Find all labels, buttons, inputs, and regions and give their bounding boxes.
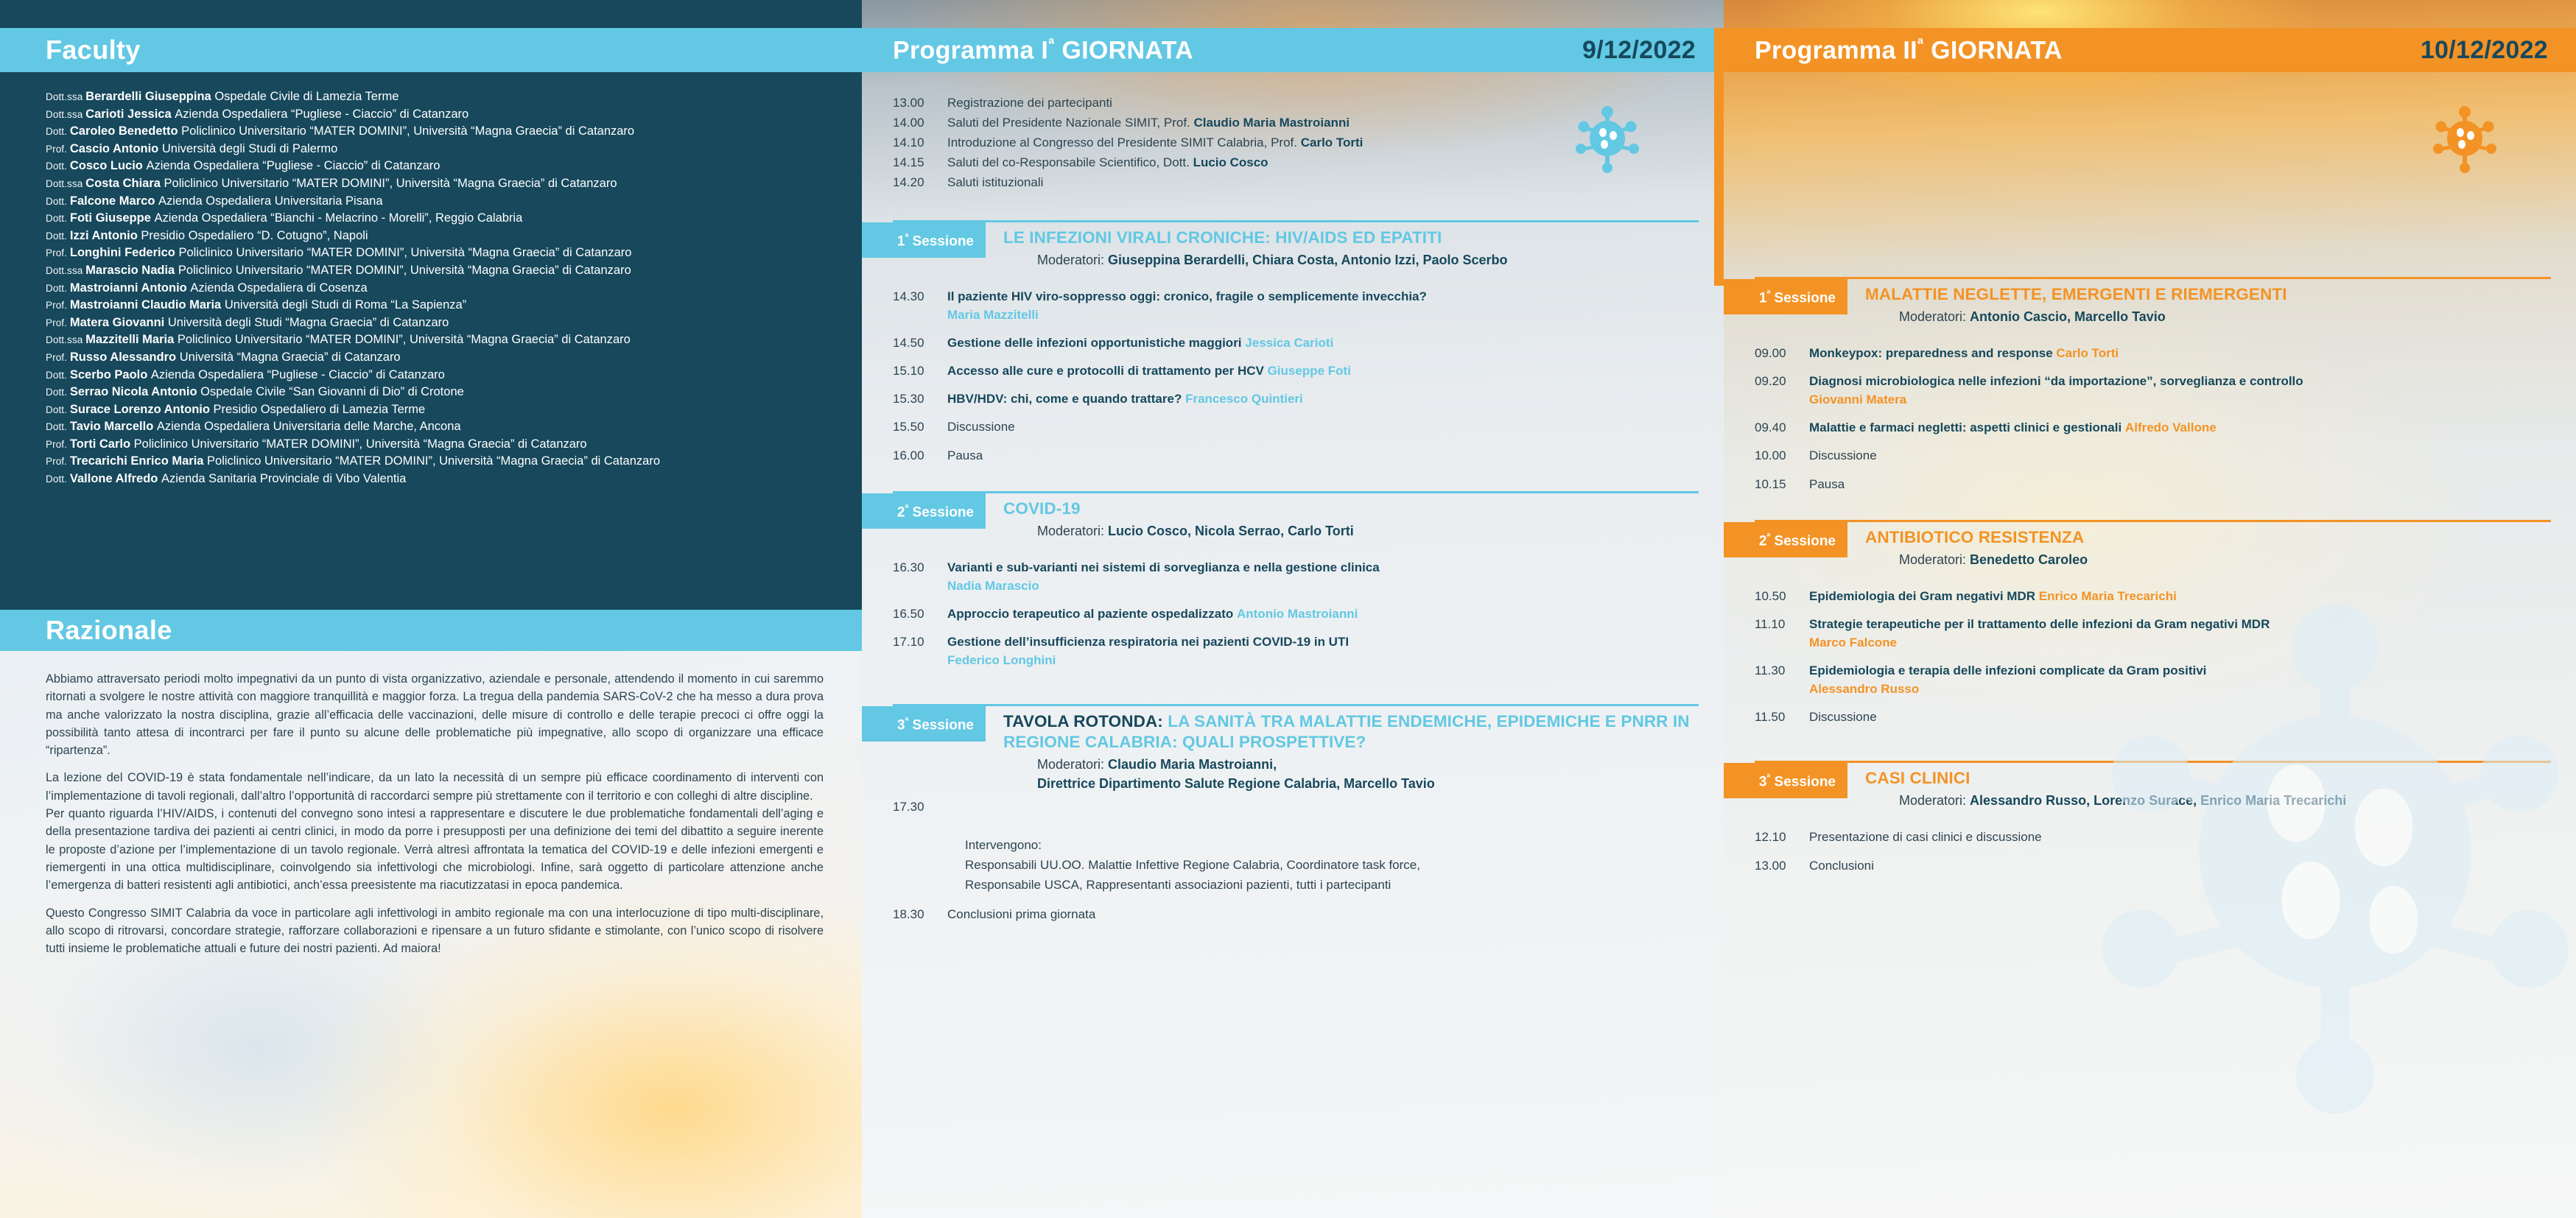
program-poster: Faculty Dott.ssa Berardelli Giuseppina O… [0,0,2576,1218]
interventions-block: Intervengono:Responsabili UU.OO. Malatti… [862,835,1699,895]
faculty-affiliation: Università degli Studi di Roma “La Sapie… [225,298,466,311]
talk-time: 11.50 [1724,708,1809,726]
razionale-section: Razionale Abbiamo attraversato periodi m… [0,610,862,1218]
session-title: MALATTIE NEGLETTE, EMERGENTI E RIEMERGEN… [1865,284,2287,305]
faculty-affiliation: Policlinico Universitario “MATER DOMINI”… [178,333,631,346]
faculty-title: Prof. [46,247,70,258]
schedule-time: 10.15 [1724,475,1809,493]
razionale-paragraph: La lezione del COVID-19 è stata fondamen… [46,769,824,805]
talk-time: 09.40 [1724,418,1809,437]
faculty-title: Dott.ssa [46,109,85,120]
faculty-entry: Prof. Longhini Federico Policlinico Univ… [46,244,832,262]
talk-content: Discussione [1809,446,2551,465]
faculty-affiliation: Policlinico Universitario “MATER DOMINI”… [207,454,660,468]
faculty-name: Mastroianni Claudio Maria [70,298,225,311]
talk-row: 16.50Approccio terapeutico al paziente o… [862,605,1699,623]
faculty-name: Izzi Antonio [70,229,141,242]
faculty-name: Carioti Jessica [85,108,175,121]
talk-content: Presentazione di casi clinici e discussi… [1809,828,2551,846]
talk-title: Malattie e farmaci negletti: aspetti cli… [1809,420,2121,434]
schedule-row: 14.20Saluti istituzionali [862,172,1699,192]
faculty-name: Berardelli Giuseppina [85,90,214,103]
talk-speaker: Antonio Mastroianni [1237,607,1358,621]
schedule-text: Conclusioni [1809,856,2551,875]
faculty-entry: Dott. Serrao Nicola Antonio Ospedale Civ… [46,384,832,401]
faculty-name: Foti Giuseppe [70,211,155,225]
session-header: 1ª SessioneMALATTIE NEGLETTE, EMERGENTI … [1724,279,2551,326]
talk-content: Varianti e sub-varianti nei sistemi di s… [947,558,1699,595]
faculty-title: Prof. [46,352,70,363]
session-tab: 1ª Sessione [862,222,986,258]
talk-content: Malattie e farmaci negletti: aspetti cli… [1809,418,2551,437]
talk-content: Discussione [947,418,1699,436]
faculty-heading: Faculty [46,35,141,66]
faculty-entry: Dott. Cosco Lucio Azienda Ospedaliera “P… [46,158,832,175]
talk-row: 14.30Il paziente HIV viro-soppresso oggi… [862,287,1699,324]
schedule-text: Saluti istituzionali [947,172,1699,192]
schedule-text: Pausa [1809,475,2551,493]
razionale-text: Abbiamo attraversato periodi molto impeg… [0,651,862,957]
talk-speaker: Carlo Torti [2056,346,2119,360]
post-session-rows: 18.30Conclusioni prima giornata [862,905,1699,923]
talk-speaker: Giovanni Matera [1809,392,1906,406]
razionale-paragraph: Abbiamo attraversato periodi molto impeg… [46,670,824,759]
talk-speaker: Nadia Marascio [947,579,1039,593]
faculty-entry: Dott.ssa Mazzitelli Maria Policlinico Un… [46,331,832,349]
talk-title: Monkeypox: preparedness and response [1809,346,2053,360]
talk-content: HBV/HDV: chi, come e quando trattare? Fr… [947,390,1699,408]
faculty-name: Marascio Nadia [85,264,178,277]
faculty-title: Dott. [46,161,70,172]
faculty-entry: Prof. Torti Carlo Policlinico Universita… [46,436,832,454]
faculty-entry: Dott. Izzi Antonio Presidio Ospedaliero … [46,228,832,245]
faculty-title: Dott. [46,370,70,381]
session-moderators: Moderatori: Giuseppina Berardelli, Chiar… [1003,248,1507,270]
session-title: LE INFEZIONI VIRALI CRONICHE: HIV/AIDS E… [1003,228,1507,248]
faculty-affiliation: Presidio Ospedaliero di Lamezia Terme [214,403,426,416]
faculty-affiliation: Università “Magna Graecia” di Catanzaro [180,351,401,364]
session-block: 2ª SessioneCOVID-19Moderatori: Lucio Cos… [862,491,1699,669]
day2-header: Programma IIª GIORNATA 10/12/2022 [1724,28,2576,72]
talk-content: Accesso alle cure e protocolli di tratta… [947,362,1699,380]
talk-row: 16.30Varianti e sub-varianti nei sistemi… [862,558,1699,595]
faculty-affiliation: Azienda Ospedaliera di Cosenza [190,281,367,295]
talk-list: 10.50Epidemiologia dei Gram negativi MDR… [1724,569,2551,726]
schedule-text: Pausa [947,446,1699,465]
faculty-entry: Dott. Mastroianni Antonio Azienda Ospeda… [46,280,832,298]
day1-header: Programma Iª GIORNATA 9/12/2022 [862,28,1724,72]
day1-date: 9/12/2022 [1582,36,1696,65]
faculty-name: Surace Lorenzo Antonio [70,403,214,416]
faculty-affiliation: Azienda Ospedaliera “Pugliese - Ciaccio”… [175,108,468,121]
session-meta: LE INFEZIONI VIRALI CRONICHE: HIV/AIDS E… [986,222,1507,270]
faculty-title: Dott. [46,230,70,242]
faculty-name: Scerbo Paolo [70,368,151,381]
schedule-text: Registrazione dei partecipanti [947,93,1699,113]
interventions-line: Responsabili UU.OO. Malattie Infettive R… [965,855,1699,875]
talk-speaker: Francesco Quintieri [1185,392,1303,406]
talk-speaker: Alessandro Russo [1809,682,1919,696]
schedule-time: 14.10 [862,133,947,152]
faculty-affiliation: Presidio Ospedaliero “D. Cotugno”, Napol… [141,229,368,242]
post-session-rows: 16.00Pausa [862,446,1699,465]
talk-title: Diagnosi microbiologica nelle infezioni … [1809,374,2303,388]
day1-program: 13.00Registrazione dei partecipanti14.00… [862,72,1724,943]
razionale-heading-bar: Razionale [0,610,862,651]
talk-time: 12.10 [1724,828,1809,846]
post-session-rows: 10.15Pausa [1724,475,2551,493]
faculty-entry: Prof. Russo Alessandro Università “Magna… [46,349,832,367]
faculty-entry: Dott.ssa Marascio Nadia Policlinico Univ… [46,262,832,280]
session-block: 3ª SessioneCASI CLINICIModeratori: Aless… [1724,761,2551,875]
talk-time: 15.50 [862,418,947,436]
faculty-entry: Prof. Trecarichi Enrico Maria Policlinic… [46,453,832,471]
talk-time: 17.10 [862,633,947,669]
talk-time: 15.30 [862,390,947,408]
schedule-row: 16.00Pausa [862,446,1699,465]
faculty-title: Dott. [46,196,70,207]
talk-title: Epidemiologia dei Gram negativi MDR [1809,589,2035,603]
faculty-entry: Prof. Matera Giovanni Università degli S… [46,314,832,332]
talk-row: 15.10Accesso alle cure e protocolli di t… [862,362,1699,380]
session-moderators-line2: Direttrice Dipartimento Salute Regione C… [1037,774,1699,793]
session-header: 3ª SessioneTAVOLA ROTONDA: LA SANITÀ TRA… [862,706,1699,793]
talk-row: 14.50Gestione delle infezioni opportunis… [862,334,1699,352]
faculty-affiliation: Azienda Ospedaliera Universitaria delle … [157,420,461,433]
session-tab: 3ª Sessione [1724,763,1847,798]
talk-time: 11.10 [1724,615,1809,652]
faculty-title: Dott. [46,126,70,137]
talk-content: Discussione [1809,708,2551,726]
faculty-name: Caroleo Benedetto [70,124,181,138]
session-block: 1ª SessioneMALATTIE NEGLETTE, EMERGENTI … [1724,277,2551,493]
session-tab: 3ª Sessione [862,706,986,742]
session-meta: TAVOLA ROTONDA: LA SANITÀ TRA MALATTIE E… [986,706,1699,793]
talk-speaker: Marco Falcone [1809,636,1897,650]
schedule-time: 18.30 [862,905,947,923]
faculty-title: Dott. [46,474,70,485]
talk-title: Strategie terapeutiche per il trattament… [1809,617,2270,631]
schedule-row: 13.00Conclusioni [1724,856,2551,875]
talk-row: 10.50Epidemiologia dei Gram negativi MDR… [1724,587,2551,605]
talk-time: 10.00 [1724,446,1809,465]
talk-time: 10.50 [1724,587,1809,605]
razionale-heading: Razionale [46,615,172,646]
orange-divider [1714,28,1724,286]
intro-schedule: 13.00Registrazione dei partecipanti14.00… [862,72,1699,192]
day1-title: Programma Iª GIORNATA [893,35,1193,65]
talk-title: Epidemiologia e terapia delle infezioni … [1809,663,2206,677]
talk-list: 14.30Il paziente HIV viro-soppresso oggi… [862,270,1699,436]
session-tab: 2ª Sessione [1724,522,1847,557]
schedule-text: Saluti del co-Responsabile Scientifico, … [947,152,1699,172]
faculty-title: Prof. [46,456,70,467]
speaker-name: Lucio Cosco [1193,155,1268,169]
session-header: 1ª SessioneLE INFEZIONI VIRALI CRONICHE:… [862,222,1699,270]
faculty-name: Trecarichi Enrico Maria [70,454,207,468]
interventions-label: Intervengono: [965,835,1699,855]
faculty-title: Dott. [46,421,70,432]
talk-content: Epidemiologia e terapia delle infezioni … [1809,661,2551,698]
faculty-affiliation: Università degli Studi “Magna Graecia” d… [168,316,449,329]
session-header: 3ª SessioneCASI CLINICIModeratori: Aless… [1724,763,2551,810]
session-moderators: Moderatori: Antonio Cascio, Marcello Tav… [1865,305,2287,326]
session-moderators: Moderatori: Benedetto Caroleo [1865,548,2088,569]
schedule-time: 14.20 [862,172,947,192]
talk-content: Gestione dell’insufficienza respiratoria… [947,633,1699,669]
speaker-name: Carlo Torti [1301,135,1364,149]
talk-content: Monkeypox: preparedness and response Car… [1809,344,2551,362]
talk-title: Gestione dell’insufficienza respiratoria… [947,635,1349,649]
session-title: CASI CLINICI [1865,768,2346,789]
session-title: TAVOLA ROTONDA: LA SANITÀ TRA MALATTIE E… [1003,711,1699,753]
day2-date: 10/12/2022 [2421,36,2548,65]
faculty-affiliation: Azienda Ospedaliera Universitaria Pisana [158,194,383,208]
faculty-affiliation: Università degli Studi di Palermo [162,142,337,155]
faculty-entry: Dott. Falcone Marco Azienda Ospedaliera … [46,193,832,211]
schedule-row: 13.00Registrazione dei partecipanti [862,93,1699,113]
talk-title: Il paziente HIV viro-soppresso oggi: cro… [947,289,1427,303]
faculty-name: Longhini Federico [70,246,179,259]
schedule-time: 13.00 [862,93,947,113]
talk-row: 11.30Epidemiologia e terapia delle infez… [1724,661,2551,698]
session-header: 2ª SessioneANTIBIOTICO RESISTENZAModerat… [1724,522,2551,569]
talk-title: Accesso alle cure e protocolli di tratta… [947,364,1264,378]
faculty-affiliation: Policlinico Universitario “MATER DOMINI”… [181,124,634,138]
schedule-row: 18.30Conclusioni prima giornata [862,905,1699,923]
speaker-name: Claudio Maria Mastroianni [1194,116,1350,130]
talk-speaker: Maria Mazzitelli [947,308,1039,322]
faculty-entry: Dott. Vallone Alfredo Azienda Sanitaria … [46,471,832,488]
faculty-name: Russo Alessandro [70,351,180,364]
talk-time: 09.00 [1724,344,1809,362]
talk-content: Epidemiologia dei Gram negativi MDR Enri… [1809,587,2551,605]
faculty-title: Dott.ssa [46,178,85,189]
faculty-affiliation: Policlinico Universitario “MATER DOMINI”… [178,246,631,259]
faculty-affiliation: Azienda Ospedaliera “Pugliese - Ciaccio”… [146,159,440,172]
talk-content: Approccio terapeutico al paziente ospeda… [947,605,1699,623]
session-meta: COVID-19Moderatori: Lucio Cosco, Nicola … [986,493,1354,541]
faculty-entry: Dott.ssa Costa Chiara Policlinico Univer… [46,175,832,193]
top-strip [0,0,862,28]
faculty-entry: Dott. Tavio Marcello Azienda Ospedaliera… [46,418,832,436]
post-session-rows: 13.00Conclusioni [1724,856,2551,875]
session-block: 1ª SessioneLE INFEZIONI VIRALI CRONICHE:… [862,220,1699,465]
day2-column: Programma IIª GIORNATA 10/12/2022 1ª Ses… [1724,0,2576,1218]
faculty-entry: Dott.ssa Berardelli Giuseppina Ospedale … [46,88,832,106]
session-moderators: Moderatori: Lucio Cosco, Nicola Serrao, … [1003,519,1354,541]
talk-title: HBV/HDV: chi, come e quando trattare? [947,392,1182,406]
talk-speaker: Federico Longhini [947,653,1056,667]
talk-content: Il paziente HIV viro-soppresso oggi: cro… [947,287,1699,324]
talk-speaker: Jessica Carioti [1245,336,1333,350]
faculty-affiliation: Ospedale Civile “San Giovanni di Dio” di… [200,385,464,398]
faculty-name: Serrao Nicola Antonio [70,385,200,398]
faculty-entry: Dott. Surace Lorenzo Antonio Presidio Os… [46,401,832,419]
faculty-title: Dott. [46,404,70,415]
talk-time: 16.30 [862,558,947,595]
talk-time: 11.30 [1724,661,1809,698]
talk-speaker: Giuseppe Foti [1268,364,1351,378]
faculty-title: Prof. [46,144,70,155]
talk-title: Approccio terapeutico al paziente ospeda… [947,607,1233,621]
talk-row: 17.10Gestione dell’insufficienza respira… [862,633,1699,669]
session-title: ANTIBIOTICO RESISTENZA [1865,527,2088,548]
session-moderators: Moderatori: Claudio Maria Mastroianni,Di… [1003,753,1699,793]
faculty-title: Dott. [46,213,70,224]
faculty-title: Dott. [46,283,70,294]
session-header: 2ª SessioneCOVID-19Moderatori: Lucio Cos… [862,493,1699,541]
talk-row: 11.10Strategie terapeutiche per il tratt… [1724,615,2551,652]
faculty-affiliation: Azienda Sanitaria Provinciale di Vibo Va… [161,472,406,485]
schedule-time: 13.00 [1724,856,1809,875]
session-title: COVID-19 [1003,499,1354,519]
talk-time: 14.50 [862,334,947,352]
faculty-title: Dott.ssa [46,334,85,345]
faculty-entry: Dott. Scerbo Paolo Azienda Ospedaliera “… [46,367,832,384]
interventions-line: Responsabile USCA, Rappresentanti associ… [965,875,1699,895]
talk-row: 09.20Diagnosi microbiologica nelle infez… [1724,372,2551,409]
talk-row: 09.00Monkeypox: preparedness and respons… [1724,344,2551,362]
faculty-title: Prof. [46,317,70,328]
faculty-name: Costa Chiara [85,177,164,190]
talk-row: 12.10Presentazione di casi clinici e dis… [1724,828,2551,846]
talk-list: 16.30Varianti e sub-varianti nei sistemi… [862,541,1699,669]
schedule-time: 17.30 [862,798,947,816]
faculty-name: Tavio Marcello [70,420,157,433]
razionale-paragraph: Questo Congresso SIMIT Calabria da voce … [46,904,824,958]
talk-time: 09.20 [1724,372,1809,409]
faculty-title: Prof. [46,439,70,450]
faculty-name: Mazzitelli Maria [85,333,178,346]
faculty-affiliation: Policlinico Universitario “MATER DOMINI”… [178,264,631,277]
faculty-entry: Dott. Caroleo Benedetto Policlinico Univ… [46,123,832,141]
session-tab: 1ª Sessione [1724,279,1847,314]
faculty-entry: Dott.ssa Carioti Jessica Azienda Ospedal… [46,106,832,124]
session-meta: CASI CLINICIModeratori: Alessandro Russo… [1847,763,2346,810]
talk-row: 09.40Malattie e farmaci negletti: aspett… [1724,418,2551,437]
faculty-name: Matera Giovanni [70,316,168,329]
faculty-title: Dott. [46,387,70,398]
talk-list: 09.00Monkeypox: preparedness and respons… [1724,326,2551,465]
day2-program: 1ª SessioneMALATTIE NEGLETTE, EMERGENTI … [1724,72,2576,894]
day2-title: Programma IIª GIORNATA [1755,35,2063,65]
faculty-affiliation: Policlinico Universitario “MATER DOMINI”… [164,177,617,190]
session-block: 3ª SessioneTAVOLA ROTONDA: LA SANITÀ TRA… [862,704,1699,923]
session-title-prefix: TAVOLA ROTONDA: [1003,712,1168,731]
razionale-paragraph: Per quanto riguarda l’HIV/AIDS, i conten… [46,805,824,894]
faculty-name: Vallone Alfredo [70,472,161,485]
session-moderators: Moderatori: Alessandro Russo, Lorenzo Su… [1865,789,2346,810]
schedule-text: Saluti del Presidente Nazionale SIMIT, P… [947,113,1699,133]
session-meta: MALATTIE NEGLETTE, EMERGENTI E RIEMERGEN… [1847,279,2287,326]
faculty-list: Dott.ssa Berardelli Giuseppina Ospedale … [0,72,862,507]
day1-column: Programma Iª GIORNATA 9/12/2022 13.00Reg… [862,0,1724,1218]
schedule-row: 14.15Saluti del co-Responsabile Scientif… [862,152,1699,172]
talk-row: 15.30HBV/HDV: chi, come e quando trattar… [862,390,1699,408]
faculty-name: Falcone Marco [70,194,158,208]
schedule-row: 10.15Pausa [1724,475,2551,493]
faculty-entry: Dott. Foti Giuseppe Azienda Ospedaliera … [46,210,832,228]
talk-title: Varianti e sub-varianti nei sistemi di s… [947,560,1380,574]
talk-speaker: Enrico Maria Trecarichi [2039,589,2177,603]
faculty-entry: Prof. Cascio Antonio Università degli St… [46,141,832,158]
talk-time: 14.30 [862,287,947,324]
faculty-affiliation: Azienda Ospedaliera “Pugliese - Ciaccio”… [151,368,445,381]
talk-content: Gestione delle infezioni opportunistiche… [947,334,1699,352]
talk-content: Strategie terapeutiche per il trattament… [1809,615,2551,652]
schedule-row: 17.30 [862,798,1699,816]
schedule-row: 14.00Saluti del Presidente Nazionale SIM… [862,113,1699,133]
talk-row: 11.50Discussione [1724,708,2551,726]
faculty-name: Torti Carlo [70,437,134,451]
faculty-title: Prof. [46,300,70,311]
talk-title: Gestione delle infezioni opportunistiche… [947,336,1242,350]
faculty-affiliation: Policlinico Universitario “MATER DOMINI”… [134,437,587,451]
faculty-name: Cosco Lucio [70,159,147,172]
schedule-row: 14.10Introduzione al Congresso del Presi… [862,133,1699,152]
session-tab: 2ª Sessione [862,493,986,529]
session-block: 2ª SessioneANTIBIOTICO RESISTENZAModerat… [1724,520,2551,726]
schedule-text: Introduzione al Congresso del Presidente… [947,133,1699,152]
talk-time: 16.50 [862,605,947,623]
faculty-affiliation: Ospedale Civile di Lamezia Terme [214,90,399,103]
faculty-heading-bar: Faculty [0,28,862,72]
talk-list: 12.10Presentazione di casi clinici e dis… [1724,810,2551,846]
faculty-title: Dott.ssa [46,91,85,102]
schedule-time: 16.00 [862,446,947,465]
faculty-title: Dott.ssa [46,265,85,276]
schedule-time: 14.00 [862,113,947,133]
schedule-text: Conclusioni prima giornata [947,905,1699,923]
talk-content: Diagnosi microbiologica nelle infezioni … [1809,372,2551,409]
talk-speaker: Alfredo Vallone [2125,420,2217,434]
faculty-affiliation: Azienda Ospedaliera “Bianchi - Melacrino… [154,211,522,225]
faculty-name: Cascio Antonio [70,142,162,155]
faculty-column: Faculty Dott.ssa Berardelli Giuseppina O… [0,0,862,1218]
session-meta: ANTIBIOTICO RESISTENZAModeratori: Benede… [1847,522,2088,569]
talk-time: 15.10 [862,362,947,380]
faculty-entry: Prof. Mastroianni Claudio Maria Universi… [46,297,832,314]
talk-row: 15.50Discussione [862,418,1699,436]
faculty-name: Mastroianni Antonio [70,281,190,295]
talk-row: 10.00Discussione [1724,446,2551,465]
schedule-time: 14.15 [862,152,947,172]
